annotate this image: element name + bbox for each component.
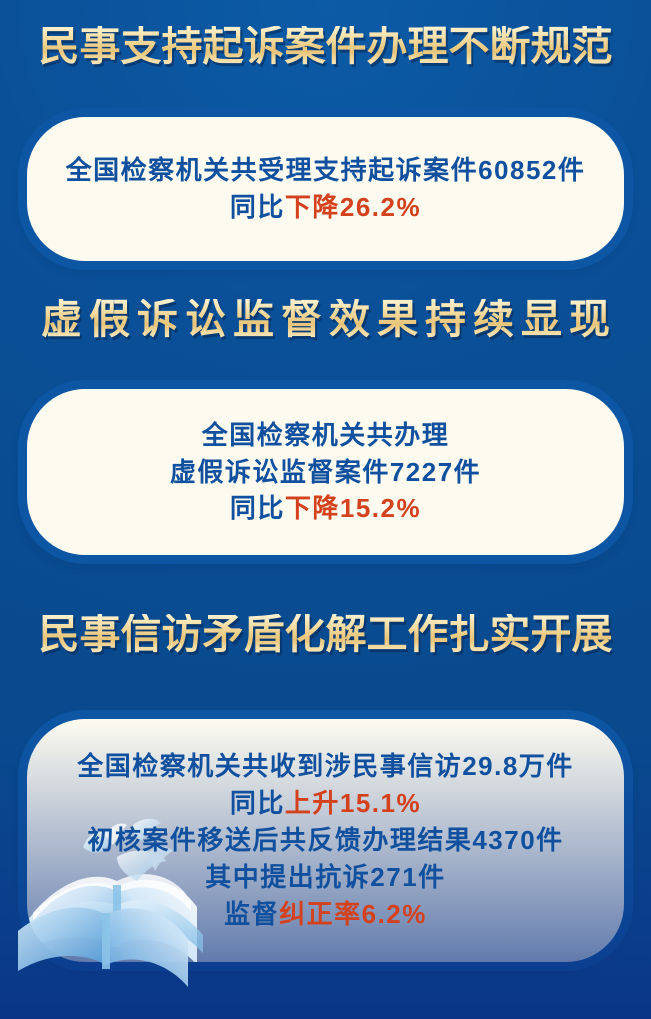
infographic-poster: 民事支持起诉案件办理不断规范 全国检察机关共受理支持起诉案件60852件 同比下… (0, 0, 651, 1019)
section-3-heading: 民事信访矛盾化解工作扎实开展 (0, 614, 651, 655)
section-3-line-1: 全国检察机关共收到涉民事信访29.8万件 (27, 748, 624, 785)
section-2-line-1: 全国检察机关共办理 (27, 417, 624, 454)
section-3-line-3: 初核案件移送后共反馈办理结果4370件 (27, 822, 624, 859)
section-3-card-lines: 全国检察机关共收到涉民事信访29.8万件 同比上升15.1% 初核案件移送后共反… (27, 748, 624, 933)
text-run: 同比 (230, 192, 285, 222)
section-3-line-5: 监督纠正率6.2% (27, 896, 624, 933)
section-1-card: 全国检察机关共受理支持起诉案件60852件 同比下降26.2% (27, 117, 624, 261)
text-run: 其中提出抗诉271件 (205, 862, 445, 892)
text-run: 全国检察机关共办理 (202, 420, 450, 450)
text-run: 虚假诉讼监督案件7227件 (170, 457, 481, 487)
section-1-line-1: 全国检察机关共受理支持起诉案件60852件 (27, 152, 624, 189)
highlight-run: 下降15.2% (285, 493, 421, 523)
text-run: 初核案件移送后共反馈办理结果4370件 (87, 825, 563, 855)
section-2-card-lines: 全国检察机关共办理 虚假诉讼监督案件7227件 同比下降15.2% (27, 417, 624, 528)
section-2-line-2: 虚假诉讼监督案件7227件 (27, 454, 624, 491)
highlight-run: 纠正率6.2% (279, 899, 427, 929)
section-2-line-3: 同比下降15.2% (27, 490, 624, 527)
section-3-card: 全国检察机关共收到涉民事信访29.8万件 同比上升15.1% 初核案件移送后共反… (27, 719, 624, 962)
highlight-run: 上升15.1% (285, 788, 421, 818)
text-run: 同比 (230, 788, 285, 818)
section-1-heading: 民事支持起诉案件办理不断规范 (0, 26, 651, 67)
text-run: 全国检察机关共受理支持起诉案件60852件 (66, 155, 586, 185)
text-run: 监督 (224, 899, 279, 929)
section-1-line-2: 同比下降26.2% (27, 189, 624, 226)
section-2-heading: 虚假诉讼监督效果持续显现 (0, 299, 651, 340)
highlight-run: 下降26.2% (285, 192, 421, 222)
section-2-card: 全国检察机关共办理 虚假诉讼监督案件7227件 同比下降15.2% (27, 389, 624, 555)
section-3-line-4: 其中提出抗诉271件 (27, 859, 624, 896)
section-1-card-lines: 全国检察机关共受理支持起诉案件60852件 同比下降26.2% (27, 152, 624, 226)
text-run: 同比 (230, 493, 285, 523)
text-run: 全国检察机关共收到涉民事信访29.8万件 (77, 751, 574, 781)
section-3-line-2: 同比上升15.1% (27, 785, 624, 822)
